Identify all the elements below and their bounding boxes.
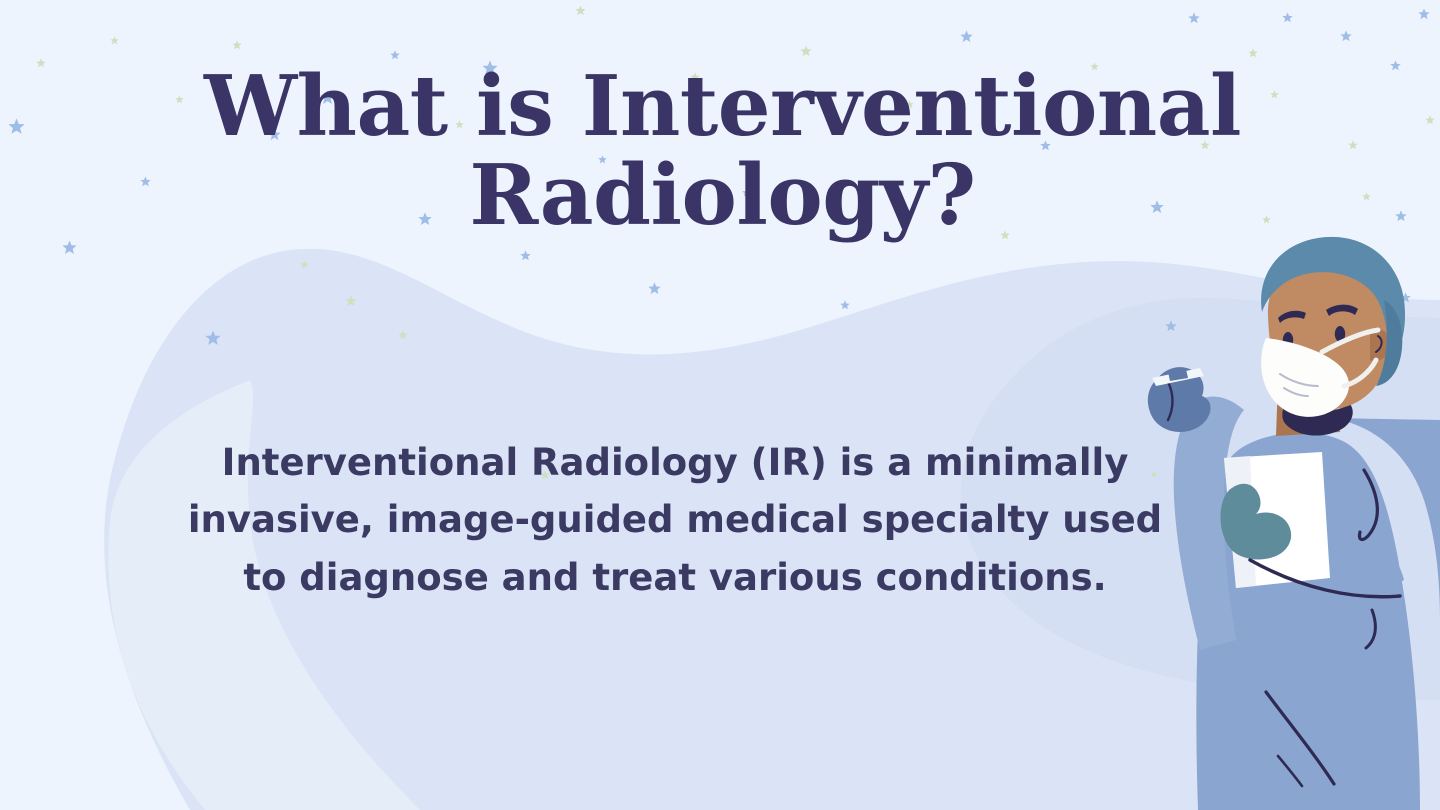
body-paragraph: Interventional Radiology (IR) is a minim…	[180, 434, 1170, 606]
title-line-1: What is Interventional	[170, 62, 1275, 151]
slide-canvas: What is Interventional Radiology? Interv…	[0, 0, 1440, 810]
title-line-2: Radiology?	[170, 151, 1275, 240]
page-title: What is Interventional Radiology?	[170, 62, 1275, 240]
text-content-layer: What is Interventional Radiology? Interv…	[0, 0, 1440, 810]
